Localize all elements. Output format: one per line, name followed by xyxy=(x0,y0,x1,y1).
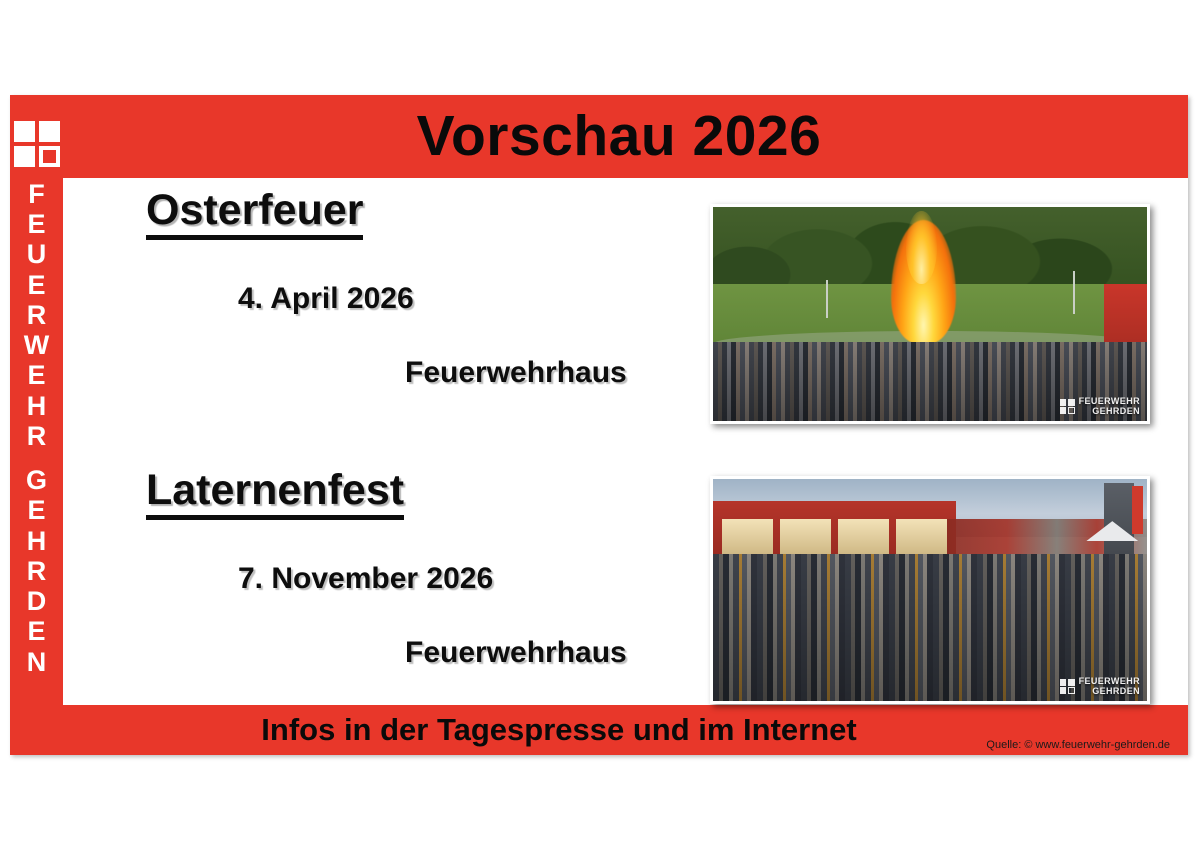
lanternfest-drill-tower xyxy=(1104,483,1134,558)
watermark-line-bottom: GEHRDEN xyxy=(1079,687,1140,696)
lanternfest-photo: FEUERWEHR GEHRDEN xyxy=(710,476,1150,704)
bay-door xyxy=(780,519,831,559)
bonfire-flame-tip xyxy=(906,211,936,284)
watermark-text: FEUERWEHR GEHRDEN xyxy=(1079,677,1140,696)
watermark-square-top-right xyxy=(1068,679,1075,686)
logo-square-top-right xyxy=(39,121,60,142)
bonfire-photo: FEUERWEHR GEHRDEN xyxy=(710,204,1150,424)
watermark-square-bottom-right-outline xyxy=(1068,407,1075,414)
events-list: Osterfeuer 4. April 2026 Feuerwehrhaus L… xyxy=(63,178,703,705)
bay-door xyxy=(838,519,889,559)
lanternfest-banner xyxy=(1132,486,1143,535)
bay-door xyxy=(722,519,773,559)
poster-header: Vorschau 2026 xyxy=(10,95,1188,178)
bay-door xyxy=(896,519,947,559)
logo-square-bottom-left xyxy=(14,146,35,167)
watermark-square-top-left xyxy=(1060,679,1067,686)
brand-wordmark-gap xyxy=(24,451,49,465)
logo-square-top-left xyxy=(14,121,35,142)
watermark-square-bottom-left xyxy=(1060,687,1067,694)
page-title: Vorschau 2026 xyxy=(377,108,822,165)
source-credit: Quelle: © www.feuerwehr-gehrden.de xyxy=(986,739,1170,751)
watermark-square-bottom-right-outline xyxy=(1068,687,1075,694)
lanternfest-photo-scene xyxy=(713,479,1147,701)
photo-watermark: FEUERWEHR GEHRDEN xyxy=(1060,397,1140,416)
watermark-logo-icon xyxy=(1060,679,1075,694)
watermark-square-top-left xyxy=(1060,399,1067,406)
poster-frame: Vorschau 2026 F E U E R W E H R G E H R … xyxy=(10,95,1188,755)
brand-sidebar: F E U E R W E H R G E H R D E N xyxy=(10,95,63,755)
watermark-text: FEUERWEHR GEHRDEN xyxy=(1079,397,1140,416)
event-name: Osterfeuer xyxy=(146,188,363,240)
photo-watermark: FEUERWEHR GEHRDEN xyxy=(1060,677,1140,696)
feuerwehr-squares-logo-icon xyxy=(14,121,60,167)
event-date: 4. April 2026 xyxy=(238,282,703,316)
logo-square-bottom-right-outline xyxy=(39,146,60,167)
poster-footer: Infos in der Tagespresse und im Internet… xyxy=(10,705,1188,755)
lanternfest-bay-doors xyxy=(722,519,948,559)
bonfire-photo-scene xyxy=(713,207,1147,421)
event-date: 7. November 2026 xyxy=(238,562,703,596)
watermark-square-top-right xyxy=(1068,399,1075,406)
event-item-osterfeuer: Osterfeuer 4. April 2026 Feuerwehrhaus xyxy=(63,188,703,390)
poster-page: { "poster": { "title": "Vorschau 2026", … xyxy=(0,0,1200,849)
brand-line-feuerwehr: F E U E R W E H R xyxy=(24,179,49,451)
watermark-square-bottom-left xyxy=(1060,407,1067,414)
watermark-logo-icon xyxy=(1060,399,1075,414)
content-panel: Osterfeuer 4. April 2026 Feuerwehrhaus L… xyxy=(63,178,1188,705)
brand-vertical-wordmark: F E U E R W E H R G E H R D E N xyxy=(24,179,49,677)
watermark-line-bottom: GEHRDEN xyxy=(1079,407,1140,416)
brand-line-gehrden: G E H R D E N xyxy=(24,465,49,677)
event-item-laternenfest: Laternenfest 7. November 2026 Feuerwehrh… xyxy=(63,468,703,670)
bonfire-lamp-post-left xyxy=(826,280,828,319)
event-name: Laternenfest xyxy=(146,468,404,520)
event-place: Feuerwehrhaus xyxy=(405,636,703,670)
bonfire-lamp-post-right xyxy=(1073,271,1075,314)
event-place: Feuerwehrhaus xyxy=(405,356,703,390)
